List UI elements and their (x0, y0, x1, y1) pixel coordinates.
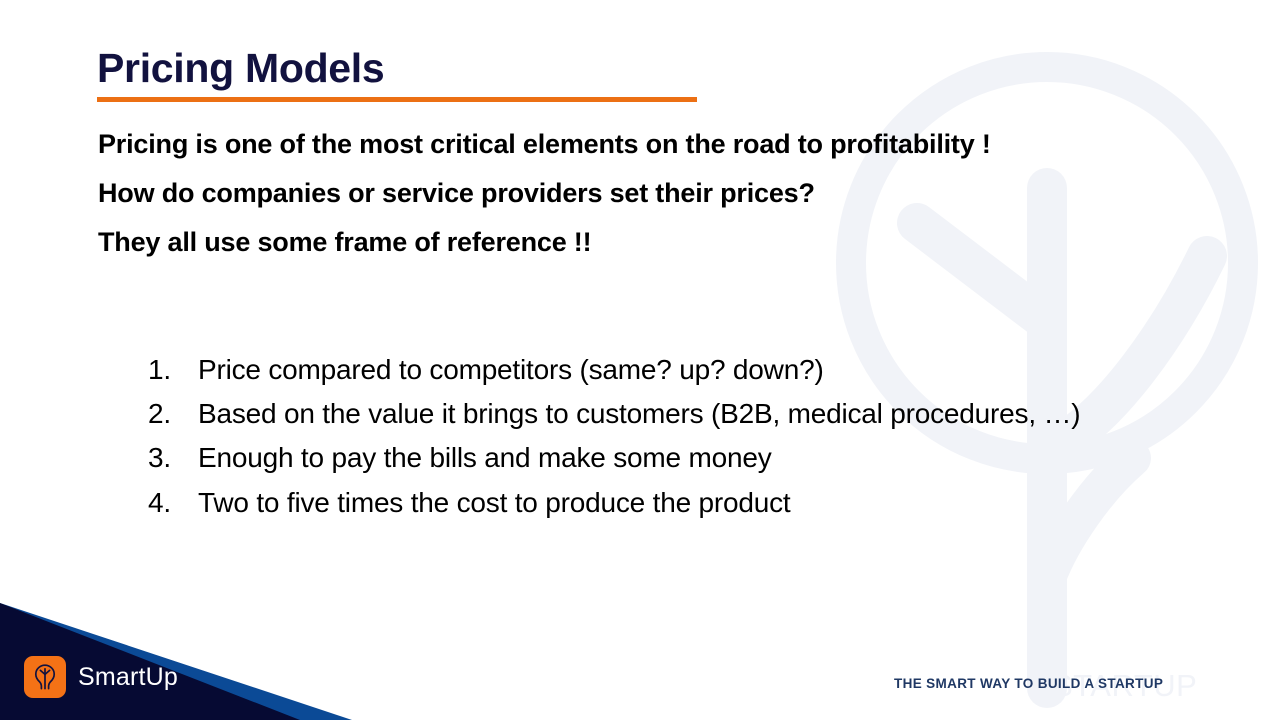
list-item: 2. Based on the value it brings to custo… (148, 392, 1168, 436)
list-item-number: 2. (148, 392, 198, 436)
body-block: Pricing is one of the most critical elem… (98, 128, 1178, 259)
tree-lightbulb-icon (30, 662, 60, 692)
list-item-label: Two to five times the cost to produce th… (198, 481, 1168, 525)
footer-tagline: THE SMART WAY TO BUILD A STARTUP (894, 676, 1163, 691)
title-block: Pricing Models (97, 46, 797, 102)
title-underline-rule (97, 97, 697, 102)
list-item: 1. Price compared to competitors (same? … (148, 348, 1168, 392)
slide-canvas: STARTUP Pricing Models Pricing is one of… (0, 0, 1280, 720)
list-item-number: 4. (148, 481, 198, 525)
page-title: Pricing Models (97, 46, 797, 90)
list-item-number: 3. (148, 436, 198, 480)
numbered-points-list: 1. Price compared to competitors (same? … (148, 348, 1168, 525)
list-item-label: Based on the value it brings to customer… (198, 392, 1168, 436)
lead-paragraph-1: Pricing is one of the most critical elem… (98, 128, 1178, 161)
list-item-number: 1. (148, 348, 198, 392)
footer-diagonal-bands (0, 590, 1280, 720)
lead-paragraph-3: They all use some frame of reference !! (98, 226, 1178, 259)
smartup-wordmark: SmartUp (78, 663, 178, 692)
list-item: 4. Two to five times the cost to produce… (148, 481, 1168, 525)
list-item-label: Price compared to competitors (same? up?… (198, 348, 1168, 392)
smartup-logo-tile (24, 656, 66, 698)
list-item: 3. Enough to pay the bills and make some… (148, 436, 1168, 480)
list-item-label: Enough to pay the bills and make some mo… (198, 436, 1168, 480)
logo-lockup: SmartUp (24, 656, 178, 698)
lead-paragraph-2: How do companies or service providers se… (98, 177, 1178, 210)
